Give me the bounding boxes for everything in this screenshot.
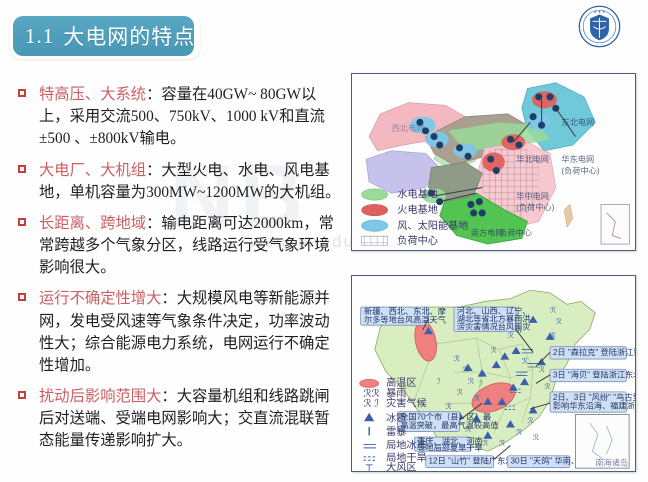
svg-text:▲ ▲ ▲: ▲ ▲ ▲: [594, 9, 606, 13]
svg-text:华东电网: 华东电网: [561, 154, 594, 164]
svg-text:∙∙∙∙∙∙∙∙∙: ∙∙∙∙∙∙∙∙∙: [596, 42, 604, 46]
svg-text:高温区: 高温区: [386, 376, 416, 389]
svg-text:ℐ: ℐ: [479, 379, 483, 388]
bullet-keyword: 运行不确定性增大: [39, 290, 161, 307]
svg-text:ℛ: ℛ: [491, 345, 497, 354]
svg-text:局地冰冻: 局地冰冻: [386, 438, 427, 451]
svg-text:灾害气候: 灾害气候: [386, 397, 427, 410]
page-title-number: 1.1: [25, 24, 54, 49]
svg-text:ℛ ℐ: ℛ ℐ: [364, 399, 380, 410]
list-item: 长距离、跨地域：输电距离可达2000km，常常跨越多个气象分区，线路运行受气象环…: [14, 213, 344, 280]
svg-text:ℛ: ℛ: [533, 433, 539, 442]
svg-text:2日 "森拉克" 登陆浙江到福建: 2日 "森拉克" 登陆浙江到福建: [553, 347, 635, 357]
bullet-keyword: 特高压、大系统: [39, 86, 146, 103]
bullet-keyword: 长距离、跨地域: [39, 215, 146, 232]
svg-text:ℛ: ℛ: [522, 357, 528, 366]
page-title-text: 大电网的特点: [63, 21, 195, 51]
bullet-keyword: 大电厂、大机组: [39, 162, 146, 179]
bullet-square-icon: [18, 165, 26, 173]
list-item: 特高压、大系统：容量在40GW~ 80GW以上，采用交流500、750kV、10…: [14, 84, 344, 151]
svg-text:3日 "海贝" 登陆浙江东北台: 3日 "海贝" 登陆浙江东北台: [553, 370, 635, 380]
bullet-square-icon: [18, 218, 26, 226]
svg-text:华北电网: 华北电网: [516, 154, 549, 164]
svg-text:ℛ: ℛ: [550, 331, 556, 340]
svg-text:冰雹: 冰雹: [386, 411, 406, 424]
svg-text:ℛ: ℛ: [516, 427, 522, 436]
svg-text:风、太阳能基地: 风、太阳能基地: [397, 219, 468, 232]
bullet-square-icon: [18, 293, 26, 301]
svg-text:ℛ: ℛ: [462, 365, 468, 374]
bullet-square-icon: [18, 391, 26, 399]
svg-text:水电基地: 水电基地: [397, 188, 438, 201]
figure-map-weather-hazards: ℛℛℛ ℛℛℛ ℛℛℛ ℛℛℛ ℛℛℛ ℛℛℛ ℛℛℛ ℐℐ 新疆、西北、东北、…: [351, 275, 636, 472]
list-item: 运行不确定性增大：大规模风电等新能源并网，发电受风速等气象条件决定，功率波动性大…: [14, 288, 344, 377]
svg-text:火电基地: 火电基地: [397, 203, 438, 216]
slide-canvas: { "slide": { "title_number": "1.1", "tit…: [0, 0, 648, 482]
svg-text:ℛ: ℛ: [508, 331, 514, 340]
bullet-separator: ：: [146, 215, 161, 232]
bullet-keyword: 扰动后影响范围大: [39, 388, 161, 405]
svg-text:华中电网: 华中电网: [516, 191, 549, 201]
bullet-square-icon: [18, 89, 26, 97]
list-item: 大电厂、大机组：大型火电、水电、风电基地，单机容量为300MW~1200MW的大…: [14, 160, 344, 204]
svg-text:ℛ: ℛ: [445, 402, 451, 411]
svg-text:涝灾害情况台风雨灾: 涝灾害情况台风雨灾: [457, 321, 531, 331]
figure-map-energy-bases: 东北电网 华北电网 华东电网 (负荷中心) 华中电网 (负荷中心) 南方电网 负…: [351, 73, 636, 251]
svg-text:南海诸岛: 南海诸岛: [595, 457, 628, 467]
svg-text:西北电网: 西北电网: [392, 123, 425, 133]
svg-text:高温突破，最高气温较高值: 高温突破，最高气温较高值: [400, 420, 498, 430]
svg-text:ℛ: ℛ: [539, 365, 545, 374]
bullet-separator: ：: [146, 86, 161, 103]
svg-text:东北电网: 东北电网: [561, 117, 594, 127]
bullet-separator: ：: [161, 388, 176, 405]
svg-text:ℛ: ℛ: [550, 306, 556, 315]
university-seal-logo: ▲ ▲ ▲ ∙∙∙∙∙∙∙∙∙: [578, 5, 621, 48]
bullet-list: 特高压、大系统：容量在40GW~ 80GW以上，采用交流500、750kV、10…: [14, 84, 344, 462]
page-title: 1.1 大电网的特点: [13, 16, 194, 56]
svg-text:ℛ: ℛ: [544, 382, 550, 391]
svg-text:负荷中心: 负荷中心: [499, 228, 532, 238]
svg-text:负荷中心: 负荷中心: [397, 234, 438, 247]
svg-text:ℛ: ℛ: [482, 439, 488, 448]
svg-text:等地局部夏旱干旱: 等地局部夏旱干旱: [417, 443, 483, 453]
list-item: 扰动后影响范围大：大容量机组和线路跳闸后对送端、受端电网影响大；交直流混联暂态能…: [14, 386, 344, 453]
svg-text:影响华东沿海、福建浙江: 影响华东沿海、福建浙江: [553, 400, 635, 410]
svg-text:ℛ: ℛ: [556, 317, 562, 326]
svg-text:大风区: 大风区: [386, 461, 416, 471]
svg-text:(负荷中心): (负荷中心): [516, 202, 554, 212]
svg-text:ℛ: ℛ: [454, 354, 460, 363]
svg-text:(负荷中心): (负荷中心): [561, 165, 599, 175]
svg-text:ℛ: ℛ: [457, 388, 463, 397]
bullet-separator: ：: [161, 290, 176, 307]
svg-text:ℛ: ℛ: [527, 416, 533, 425]
svg-text:ℐ: ℐ: [437, 376, 441, 385]
svg-text:ℛ: ℛ: [474, 393, 480, 402]
svg-text:ℛ: ℛ: [468, 376, 474, 385]
bullet-separator: ：: [146, 162, 161, 179]
svg-text:ℛ: ℛ: [499, 439, 505, 448]
svg-text:尔多等地台风高温天气: 尔多等地台风高温天气: [364, 314, 446, 324]
svg-text:雷暴: 雷暴: [386, 426, 406, 438]
